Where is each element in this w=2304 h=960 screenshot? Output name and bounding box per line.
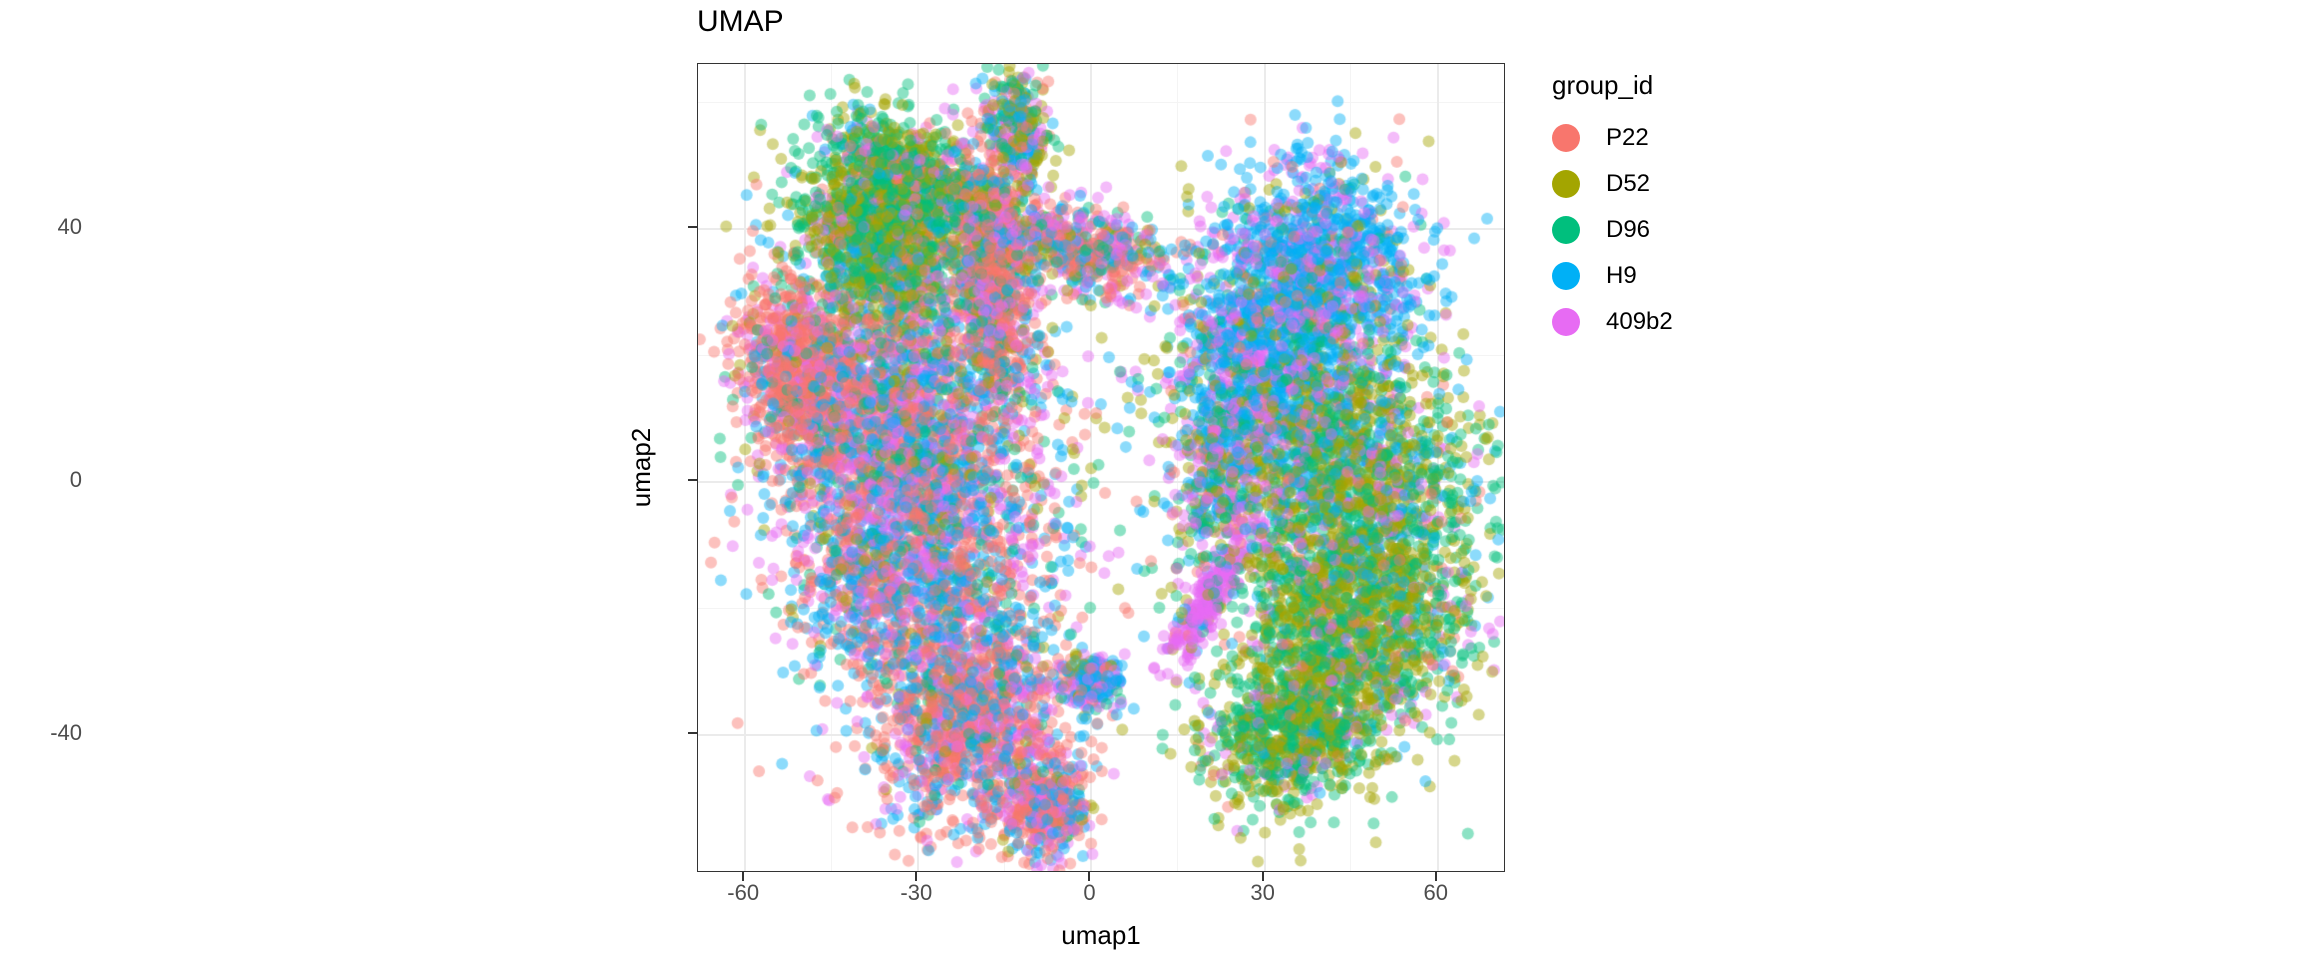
x-tick-label: -30: [900, 880, 932, 906]
legend-items: P22D52D96H9409b2: [1552, 115, 1673, 345]
legend-key-icon: [1552, 124, 1580, 152]
legend-key-icon: [1552, 262, 1580, 290]
x-axis-title: umap1: [697, 920, 1505, 951]
legend-item-h9[interactable]: H9: [1552, 253, 1673, 299]
legend-item-d52[interactable]: D52: [1552, 161, 1673, 207]
legend-item-p22[interactable]: P22: [1552, 115, 1673, 161]
legend-item-label: P22: [1606, 124, 1649, 152]
x-tick-label: 30: [1250, 880, 1274, 906]
y-tick-label: -40: [50, 720, 82, 746]
legend-item-label: 409b2: [1606, 308, 1673, 336]
legend-key-icon: [1552, 170, 1580, 198]
x-tick-label: -60: [727, 880, 759, 906]
x-tick-label: 60: [1423, 880, 1447, 906]
legend-item-label: D52: [1606, 170, 1650, 198]
scatter-points-canvas: [698, 64, 1504, 871]
x-tick-label: 0: [1083, 880, 1095, 906]
legend-item-409b2[interactable]: 409b2: [1552, 299, 1673, 345]
legend-item-d96[interactable]: D96: [1552, 207, 1673, 253]
page-title: UMAP: [697, 2, 784, 42]
y-tick-mark: [688, 479, 697, 481]
plot-panel: [697, 63, 1505, 872]
y-tick-mark: [688, 226, 697, 228]
y-tick-label: 0: [70, 467, 82, 493]
legend: group_id P22D52D96H9409b2: [1552, 70, 1673, 345]
legend-item-label: H9: [1606, 262, 1637, 290]
umap-figure: UMAP -60-3003060-40040 umap1 umap2 group…: [0, 0, 2304, 960]
legend-key-icon: [1552, 216, 1580, 244]
y-tick-label: 40: [58, 214, 82, 240]
y-axis-title: umap2: [626, 63, 657, 872]
legend-key-icon: [1552, 308, 1580, 336]
legend-title: group_id: [1552, 70, 1673, 101]
y-tick-mark: [688, 732, 697, 734]
legend-item-label: D96: [1606, 216, 1650, 244]
